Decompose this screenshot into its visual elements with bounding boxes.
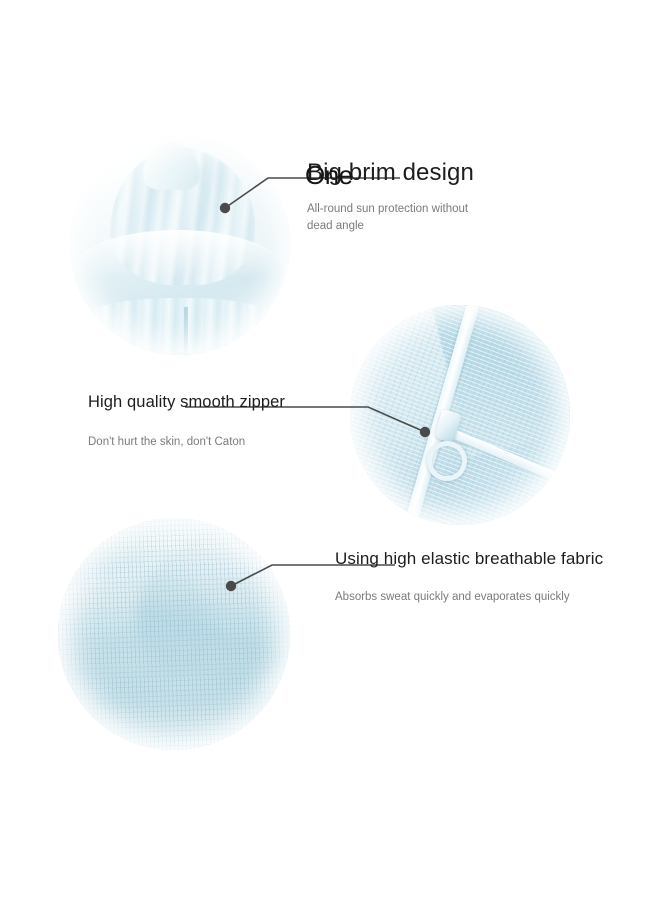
- callout-fabric-title: Using high elastic breathable fabric: [335, 548, 645, 570]
- callout-big-brim-title: Big brim design: [307, 158, 637, 188]
- callout-big-brim-subtitle: All-round sun protection without dead an…: [307, 201, 492, 234]
- hat-neck-cape: [70, 298, 290, 355]
- overprint-text-one: One: [305, 160, 353, 190]
- hat-cape-zipper: [184, 307, 188, 355]
- feature-photo-big-brim: [70, 135, 290, 355]
- product-feature-infographic: Big brim design All-round sun protection…: [0, 0, 660, 900]
- callout-fabric: Using high elastic breathable fabric Abs…: [335, 548, 645, 606]
- feature-photo-fabric: [58, 518, 290, 750]
- callout-zipper-subtitle: Don't hurt the skin, don't Caton: [88, 434, 388, 451]
- callout-fabric-subtitle: Absorbs sweat quickly and evaporates qui…: [335, 589, 645, 606]
- callout-zipper: High quality smooth zipper Don't hurt th…: [88, 392, 388, 451]
- fabric-weave-texture: [58, 518, 290, 750]
- fabric-photo-content: [58, 518, 290, 750]
- hat-photo-content: [70, 135, 290, 355]
- callout-zipper-title: High quality smooth zipper: [88, 392, 388, 413]
- callout-big-brim: Big brim design All-round sun protection…: [307, 158, 637, 234]
